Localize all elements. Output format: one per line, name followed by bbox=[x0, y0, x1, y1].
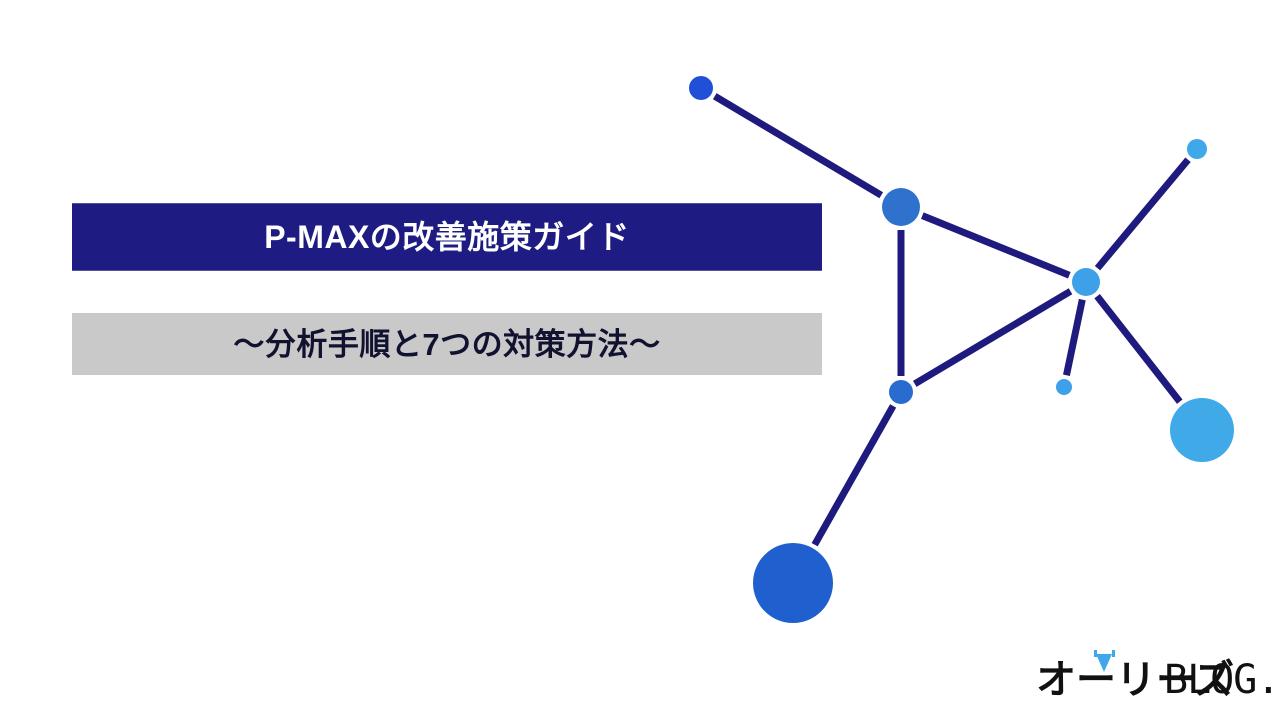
logo-mark: オーリーズ BLOG. bbox=[1036, 648, 1280, 700]
node-hub bbox=[1072, 268, 1100, 296]
node-upper-mid bbox=[882, 188, 920, 226]
page-title: P-MAXの改善施策ガイド bbox=[264, 221, 630, 253]
network-edge bbox=[1097, 296, 1180, 401]
node-small-lower bbox=[1056, 379, 1072, 395]
network-edge bbox=[815, 406, 893, 545]
network-edge bbox=[715, 96, 881, 195]
network-edge bbox=[915, 291, 1071, 384]
node-top-right bbox=[1187, 139, 1207, 159]
node-large-bottom bbox=[753, 543, 833, 623]
subtitle-banner: 〜分析手順と7つの対策方法〜 bbox=[72, 313, 822, 375]
network-edge bbox=[1098, 160, 1188, 268]
node-mid-left bbox=[889, 380, 913, 404]
node-top-left bbox=[689, 76, 713, 100]
network-edge bbox=[922, 216, 1069, 276]
page-subtitle: 〜分析手順と7つの対策方法〜 bbox=[233, 329, 660, 360]
slide-canvas: P-MAXの改善施策ガイド 〜分析手順と7つの対策方法〜 オーリーズ BLOG. bbox=[0, 0, 1280, 720]
network-edge bbox=[1066, 300, 1082, 376]
oluiz-blog-logo: オーリーズ BLOG. bbox=[1036, 648, 1280, 700]
node-large-right bbox=[1170, 398, 1234, 462]
title-banner: P-MAXの改善施策ガイド bbox=[72, 203, 822, 271]
logo-english-text: BLOG. bbox=[1164, 657, 1279, 700]
